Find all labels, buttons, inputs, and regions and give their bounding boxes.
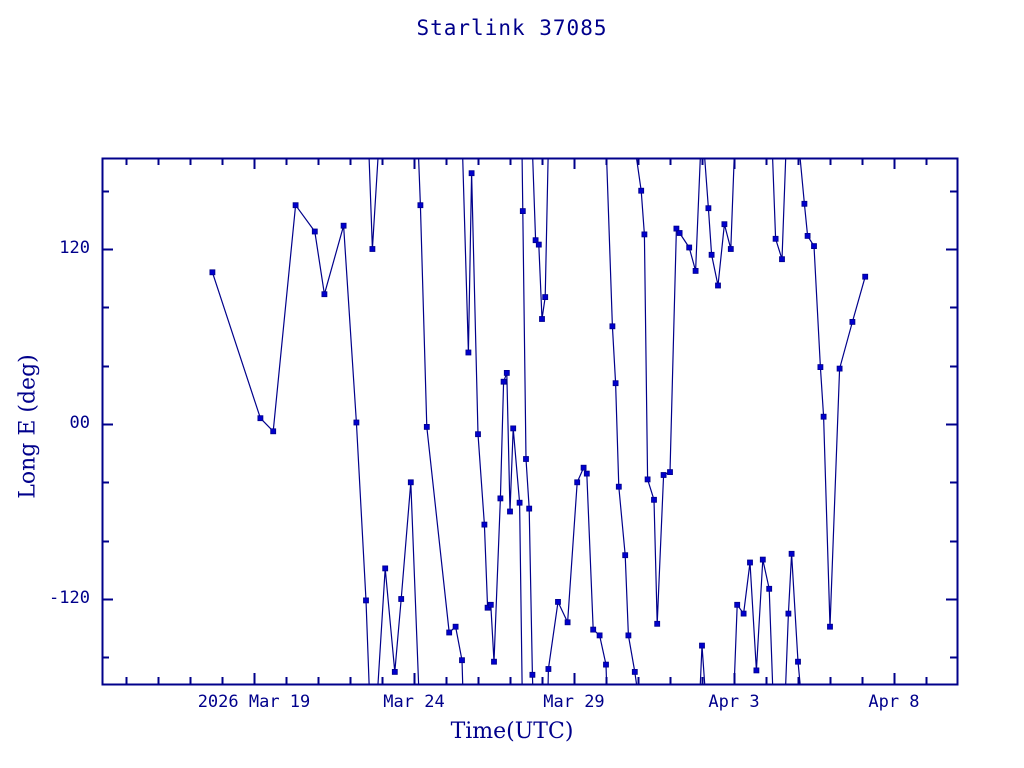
data-marker [687, 245, 692, 250]
data-marker [504, 370, 509, 375]
data-line [800, 158, 865, 627]
data-marker [322, 292, 327, 297]
data-marker [341, 223, 346, 228]
data-marker [652, 497, 657, 502]
data-marker [626, 633, 631, 638]
data-marker [805, 233, 810, 238]
data-marker [767, 586, 772, 591]
data-marker [591, 627, 596, 632]
data-marker [501, 379, 506, 384]
data-marker [546, 667, 551, 672]
data-marker [632, 669, 637, 674]
chart-title: Starlink 37085 [0, 16, 1024, 40]
data-marker [639, 188, 644, 193]
data-marker [863, 274, 868, 279]
data-marker [424, 424, 429, 429]
data-marker [399, 597, 404, 602]
data-marker [661, 473, 666, 478]
data-marker [645, 477, 650, 482]
data-marker [293, 203, 298, 208]
data-marker [418, 203, 423, 208]
data-marker [821, 414, 826, 419]
data-marker [476, 432, 481, 437]
data-marker [517, 500, 522, 505]
data-marker [709, 252, 714, 257]
data-line [378, 482, 419, 684]
data-marker [527, 506, 532, 511]
data-marker [492, 659, 497, 664]
y-tick-label: 120 [0, 238, 90, 258]
data-marker [520, 209, 525, 214]
data-marker [581, 465, 586, 470]
data-marker [584, 471, 589, 476]
data-marker [706, 206, 711, 211]
data-marker [716, 283, 721, 288]
data-marker [677, 231, 682, 236]
data-marker [613, 381, 618, 386]
data-marker [498, 496, 503, 501]
data-marker [469, 171, 474, 176]
data-line [705, 158, 735, 286]
data-line [548, 468, 607, 684]
data-marker [488, 602, 493, 607]
data-marker [364, 598, 369, 603]
data-line [734, 560, 772, 684]
data-marker [540, 317, 545, 322]
data-marker [383, 566, 388, 571]
data-marker [565, 620, 570, 625]
data-marker [524, 457, 529, 462]
data-line [369, 158, 378, 249]
data-marker [370, 247, 375, 252]
data-marker [530, 672, 535, 677]
x-axis-label: Time(UTC) [0, 719, 1024, 744]
data-marker [693, 268, 698, 273]
data-marker [258, 416, 263, 421]
data-marker [760, 557, 765, 562]
data-marker [597, 633, 602, 638]
data-marker [482, 522, 487, 527]
data-marker [655, 621, 660, 626]
data-marker [722, 222, 727, 227]
data-marker [408, 480, 413, 485]
data-marker [271, 429, 276, 434]
data-marker [354, 420, 359, 425]
data-marker [668, 470, 673, 475]
data-line [637, 158, 701, 624]
data-marker [828, 624, 833, 629]
data-marker [543, 295, 548, 300]
chart-canvas: Starlink 37085 Long E (deg) Time(UTC) 12… [0, 0, 1024, 768]
data-marker [741, 611, 746, 616]
data-marker [453, 624, 458, 629]
data-marker [812, 244, 817, 249]
data-marker [728, 247, 733, 252]
data-line [212, 205, 369, 684]
data-marker [604, 662, 609, 667]
data-marker [460, 658, 465, 663]
data-marker [850, 319, 855, 324]
data-line [522, 158, 533, 684]
data-marker [312, 229, 317, 234]
data-marker [818, 365, 823, 370]
data-marker [447, 630, 452, 635]
data-marker [623, 553, 628, 558]
data-marker [773, 236, 778, 241]
x-tick-label: Apr 8 [784, 692, 1004, 712]
data-marker [466, 350, 471, 355]
data-marker [780, 257, 785, 262]
data-marker [802, 201, 807, 206]
data-marker [700, 643, 705, 648]
data-line [773, 158, 786, 259]
data-marker [511, 426, 516, 431]
data-marker [210, 270, 215, 275]
data-marker [642, 232, 647, 237]
data-marker [735, 602, 740, 607]
data-line [607, 158, 637, 684]
data-marker [616, 484, 621, 489]
data-marker [789, 551, 794, 556]
data-marker [392, 669, 397, 674]
data-marker [796, 659, 801, 664]
data-marker [610, 324, 615, 329]
data-marker [508, 509, 513, 514]
data-marker [556, 599, 561, 604]
data-marker [837, 366, 842, 371]
data-marker [536, 242, 541, 247]
data-marker [748, 560, 753, 565]
data-marker [754, 668, 759, 673]
data-line [419, 158, 463, 684]
y-tick-label: 00 [0, 413, 90, 433]
y-tick-label: -120 [0, 588, 90, 608]
data-marker [575, 480, 580, 485]
data-marker [786, 611, 791, 616]
plot-area [0, 0, 1024, 768]
